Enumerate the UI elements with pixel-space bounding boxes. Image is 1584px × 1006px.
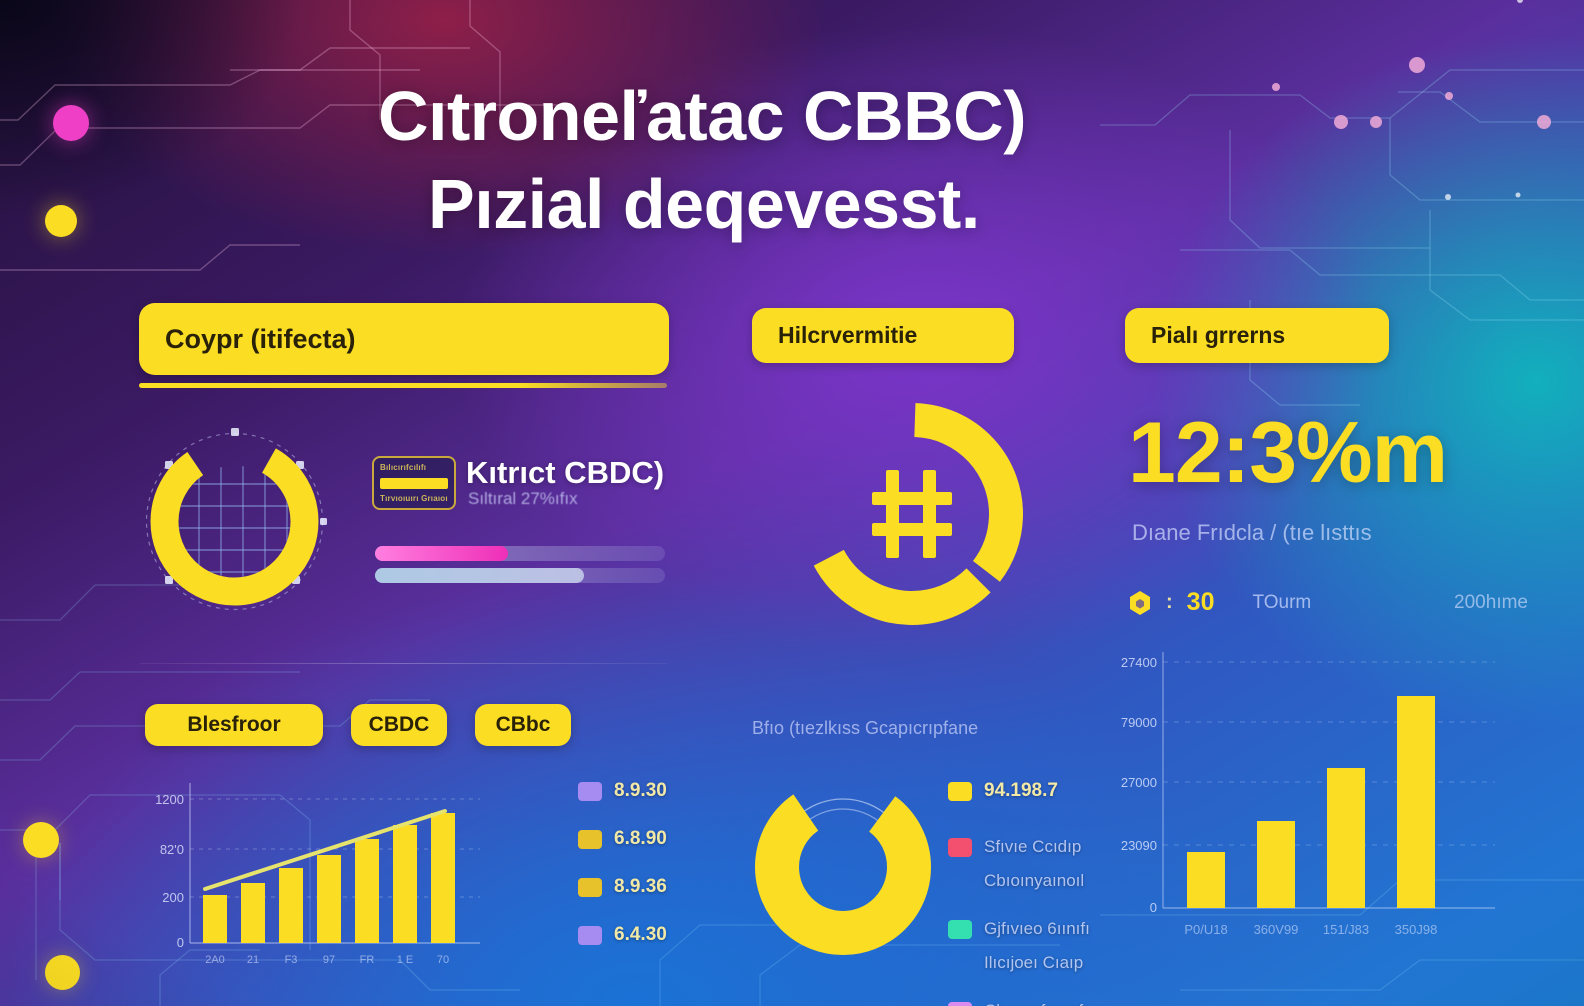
progress-bar-1-fill <box>375 546 508 561</box>
big-metric-sublabel: Dıane Frıdcla / (tıe lısttıs <box>1132 520 1372 546</box>
x-tick-5: FR <box>360 954 375 966</box>
bar-2 <box>241 883 265 943</box>
stat-unit: TOurm <box>1252 592 1311 614</box>
section-divider <box>140 663 667 664</box>
card-badge-icon: Bılıcırıfcılıfı Tırvıoıuırı Grıaıoı <box>372 456 456 510</box>
center-donut <box>748 772 938 962</box>
center-tab-button[interactable]: Hilcrvermitie <box>752 308 1014 363</box>
legend-swatch <box>948 1002 972 1006</box>
legend-label: 6.4.30 <box>614 924 667 946</box>
bar-1 <box>203 895 227 943</box>
legend-item: Sfıvıe Ccıdıp <box>948 834 1090 860</box>
center-chart-legend: 94.198.7 Sfıvıe Ccıdıp Cbıoınyaınoıl Gjf… <box>948 778 1090 1006</box>
legend-item: 94.198.7 <box>948 778 1090 804</box>
left-chart-legend: 8.9.30 6.8.90 8.9.36 6.4.30 <box>578 780 667 946</box>
big-metric-value: 12:3%m <box>1128 404 1447 503</box>
x-tick-3: 151/J83 <box>1323 922 1369 937</box>
dashboard-canvas: Cıtroneľatac CBBC) Pızial deqevesst. Coy… <box>0 0 1584 1006</box>
progress-bar-2-fill <box>375 568 584 583</box>
bar-4 <box>317 855 341 943</box>
card-badge-top-text: Bılıcırıfcılıfı <box>380 463 448 472</box>
bar-5 <box>355 839 379 943</box>
legend-label: Gjfıvıeo 6ıınıfı <box>984 919 1090 939</box>
legend-swatch <box>578 878 602 897</box>
tag-group: Blesfroor CBDC CBbc <box>145 704 571 746</box>
bar-3 <box>279 868 303 943</box>
legend-item: 6.4.30 <box>578 924 667 946</box>
center-caption: Bfıo (tıezlkıss Gcapıcrıpfane <box>752 718 978 739</box>
x-tick-1: P0/U18 <box>1184 922 1227 937</box>
hash-icon <box>872 470 952 558</box>
legend-label: 6.8.90 <box>614 828 667 850</box>
legend-label: Sfıvıe Ccıdıp <box>984 837 1081 857</box>
bar-6 <box>393 825 417 943</box>
y-tick-23090: 23090 <box>1121 838 1157 853</box>
stat-right-text: 200hıme <box>1454 592 1528 614</box>
x-tick-2: 21 <box>247 954 259 966</box>
tag-button-2[interactable]: CBDC <box>351 704 447 746</box>
legend-swatch <box>578 830 602 849</box>
progress-bar-2[interactable] <box>375 568 665 583</box>
hexagon-icon <box>1128 590 1152 616</box>
card-badge-bottom-text: Tırvıoıuırı Grıaıoı <box>380 494 448 503</box>
bar-7 <box>431 813 455 943</box>
y-tick-1200: 1200 <box>155 792 184 807</box>
bar-3 <box>1327 768 1365 908</box>
page-title: Cıtroneľatac CBBC) Pızial deqevesst. <box>370 72 1270 248</box>
progress-bar-1[interactable] <box>375 546 665 561</box>
tag-button-1[interactable]: Blesfroor <box>145 704 323 746</box>
left-growth-chart: 1200 82'0 200 0 2A0 21 F3 97 FR 1 E 70 <box>150 775 550 970</box>
y-tick-200: 200 <box>162 890 184 905</box>
y-tick-820: 82'0 <box>160 842 184 857</box>
card-badge-bar <box>380 478 448 489</box>
legend-item: Cbıroırıfanıafı <box>948 998 1090 1006</box>
y-tick-79000: 79000 <box>1121 715 1157 730</box>
bar-1 <box>1187 852 1225 908</box>
primary-tab-underline <box>139 383 667 388</box>
legend-label: Cbıroırıfanıafı <box>984 1001 1088 1006</box>
stat-row: : 30 TOurm 200hıme <box>1128 588 1528 617</box>
right-tab-button[interactable]: Pialı grrerns <box>1125 308 1389 363</box>
legend-swatch <box>578 926 602 945</box>
title-line-1: Cıtroneľatac CBBC) <box>370 72 1270 160</box>
legend-label: 8.9.30 <box>614 780 667 802</box>
x-tick-1: 2A0 <box>205 954 225 966</box>
legend-item: 8.9.36 <box>578 876 667 898</box>
x-tick-3: F3 <box>285 954 298 966</box>
legend-sublabel: Cbıoınyaınoıl <box>984 871 1084 891</box>
legend-label: 8.9.36 <box>614 876 667 898</box>
x-tick-2: 360V99 <box>1254 922 1299 937</box>
tag-button-3[interactable]: CBbc <box>475 704 571 746</box>
right-volume-chart: 27400 79000 27000 23090 0 P0/U18 360V99 … <box>1105 640 1505 960</box>
legend-swatch <box>948 782 972 801</box>
legend-swatch <box>578 782 602 801</box>
y-tick-0: 0 <box>177 935 184 950</box>
y-tick-0: 0 <box>1150 900 1157 915</box>
bar-4 <box>1397 696 1435 908</box>
x-tick-6: 1 E <box>397 954 414 966</box>
stat-separator: : <box>1166 591 1173 614</box>
x-tick-4: 97 <box>323 954 335 966</box>
legend-item-sub: Ilıcıjoeı Cıaıp <box>948 950 1090 976</box>
title-line-2: Pızial deqevesst. <box>370 160 1270 248</box>
legend-swatch <box>948 838 972 857</box>
legend-swatch <box>948 920 972 939</box>
y-tick-27400: 27400 <box>1121 655 1157 670</box>
kpi-label: Kıtrıct CBDC) <box>466 455 664 491</box>
bar-2 <box>1257 821 1295 908</box>
primary-tab-button[interactable]: Coypr (itifecta) <box>139 303 669 375</box>
legend-item-sub: Cbıoınyaınoıl <box>948 868 1090 894</box>
hash-donut-icon <box>790 392 1034 636</box>
legend-label: 94.198.7 <box>984 780 1058 802</box>
legend-sublabel: Ilıcıjoeı Cıaıp <box>984 953 1083 973</box>
x-tick-4: 350J98 <box>1395 922 1438 937</box>
x-tick-7: 70 <box>437 954 449 966</box>
y-tick-27000: 27000 <box>1121 775 1157 790</box>
legend-item: 6.8.90 <box>578 828 667 850</box>
stat-number: 30 <box>1187 588 1215 617</box>
donut-ring-grid-icon <box>137 424 332 619</box>
legend-item: 8.9.30 <box>578 780 667 802</box>
legend-item: Gjfıvıeo 6ıınıfı <box>948 916 1090 942</box>
kpi-sublabel: Sıltıral 27%ıfıx <box>468 489 578 509</box>
